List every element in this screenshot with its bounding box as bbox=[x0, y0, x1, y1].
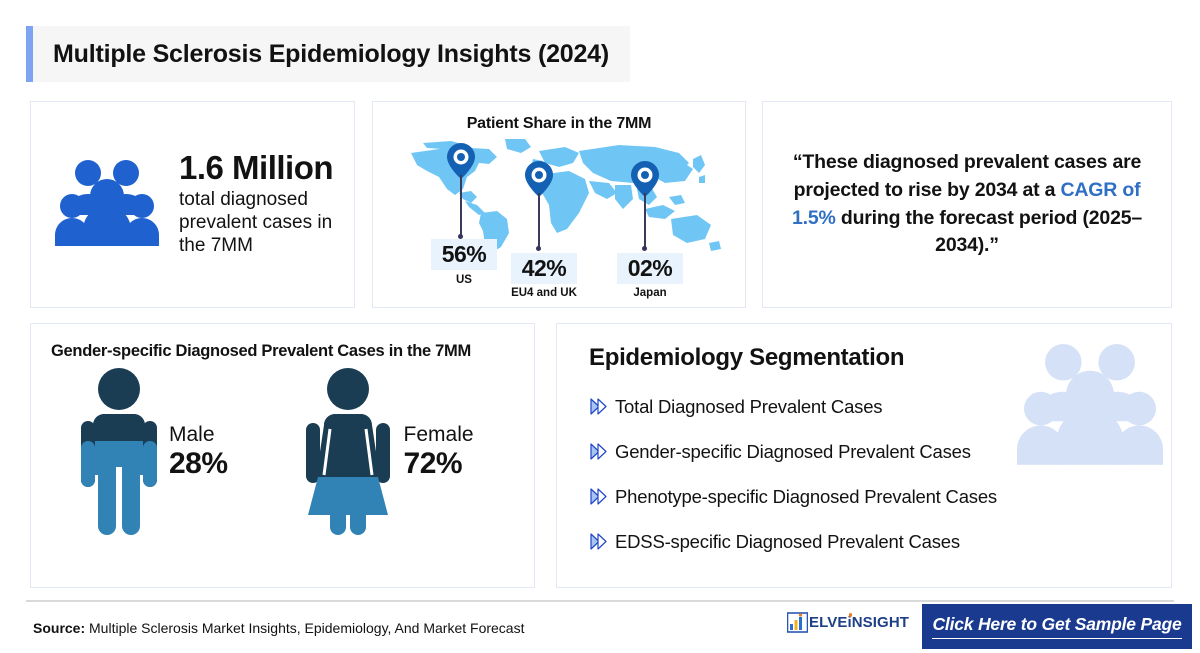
patient-share-card: Patient Share in the 7MM bbox=[372, 101, 746, 308]
map-pin-eu-icon bbox=[525, 161, 553, 197]
footer-divider bbox=[26, 600, 1174, 602]
share-label-eu: EU4 and UK bbox=[501, 287, 587, 299]
pin-stem-japan bbox=[644, 193, 646, 249]
segmentation-item[interactable]: Phenotype-specific Diagnosed Prevalent C… bbox=[557, 474, 1171, 519]
pin-stem-us bbox=[460, 175, 462, 237]
gender-name-female: Female bbox=[404, 424, 474, 446]
delveinsight-logo-icon bbox=[787, 612, 808, 633]
double-chevron-icon bbox=[589, 397, 615, 416]
gender-card-title: Gender-specific Diagnosed Prevalent Case… bbox=[31, 324, 534, 361]
segmentation-item-label: EDSS-specific Diagnosed Prevalent Cases bbox=[615, 531, 960, 553]
source-text: Multiple Sclerosis Market Insights, Epid… bbox=[89, 620, 524, 636]
header-accent-bar bbox=[26, 26, 33, 82]
double-chevron-icon bbox=[589, 487, 615, 506]
delveinsight-wordmark: ELVEiNSIGHT bbox=[809, 614, 909, 631]
segmentation-item-label: Phenotype-specific Diagnosed Prevalent C… bbox=[615, 486, 997, 508]
share-percent-us: 56% bbox=[431, 239, 497, 270]
segmentation-item[interactable]: EDSS-specific Diagnosed Prevalent Cases bbox=[557, 519, 1171, 564]
source-line: Source: Multiple Sclerosis Market Insigh… bbox=[33, 620, 525, 636]
source-label: Source: bbox=[33, 620, 85, 636]
page-header: Multiple Sclerosis Epidemiology Insights… bbox=[26, 26, 630, 82]
pin-dot-japan bbox=[642, 246, 647, 251]
logo-word-part-3: NSIGHT bbox=[852, 614, 909, 631]
segmentation-item-label: Total Diagnosed Prevalent Cases bbox=[615, 396, 882, 418]
cagr-quote-text: “These diagnosed prevalent cases are pro… bbox=[785, 149, 1149, 260]
gender-entry-male: Male 28% bbox=[79, 367, 228, 537]
male-figure-icon bbox=[79, 367, 159, 537]
cta-label: Click Here to Get Sample Page bbox=[932, 614, 1181, 639]
pin-stem-eu bbox=[538, 193, 540, 249]
share-label-japan: Japan bbox=[613, 287, 687, 299]
total-cases-description: total diagnosed prevalent cases in the 7… bbox=[179, 188, 354, 258]
gender-percent-male: 28% bbox=[169, 447, 228, 480]
gender-name-male: Male bbox=[169, 424, 228, 446]
total-cases-value: 1.6 Million bbox=[179, 151, 354, 186]
gender-cases-card: Gender-specific Diagnosed Prevalent Case… bbox=[30, 323, 535, 588]
double-chevron-icon bbox=[589, 442, 615, 461]
double-chevron-icon bbox=[589, 532, 615, 551]
gender-entry-female: Female 72% bbox=[302, 367, 474, 537]
share-percent-japan: 02% bbox=[617, 253, 683, 284]
pin-dot-eu bbox=[536, 246, 541, 251]
page-title: Multiple Sclerosis Epidemiology Insights… bbox=[33, 40, 609, 69]
share-label-us: US bbox=[431, 274, 497, 286]
share-percent-eu: 42% bbox=[511, 253, 577, 284]
segmentation-item-label: Gender-specific Diagnosed Prevalent Case… bbox=[615, 441, 971, 463]
group-people-icon-faded bbox=[1017, 338, 1163, 473]
total-cases-card: 1.6 Million total diagnosed prevalent ca… bbox=[30, 101, 355, 308]
female-figure-icon bbox=[302, 367, 394, 537]
quote-part-2: during the forecast period (2025–2034).” bbox=[836, 207, 1142, 257]
map-pin-japan-icon bbox=[631, 161, 659, 197]
delveinsight-logo[interactable]: ELVEiNSIGHT bbox=[787, 612, 909, 633]
map-pin-us-icon bbox=[447, 143, 475, 179]
gender-percent-female: 72% bbox=[404, 447, 474, 480]
epidemiology-segmentation-card: Epidemiology Segmentation bbox=[556, 323, 1172, 588]
patient-share-title: Patient Share in the 7MM bbox=[373, 115, 745, 133]
cagr-quote-card: “These diagnosed prevalent cases are pro… bbox=[762, 101, 1172, 308]
logo-word-part-2: i bbox=[847, 614, 851, 631]
logo-word-part-1: ELVE bbox=[809, 614, 847, 631]
get-sample-page-button[interactable]: Click Here to Get Sample Page bbox=[922, 604, 1192, 649]
group-people-icon bbox=[55, 158, 165, 251]
